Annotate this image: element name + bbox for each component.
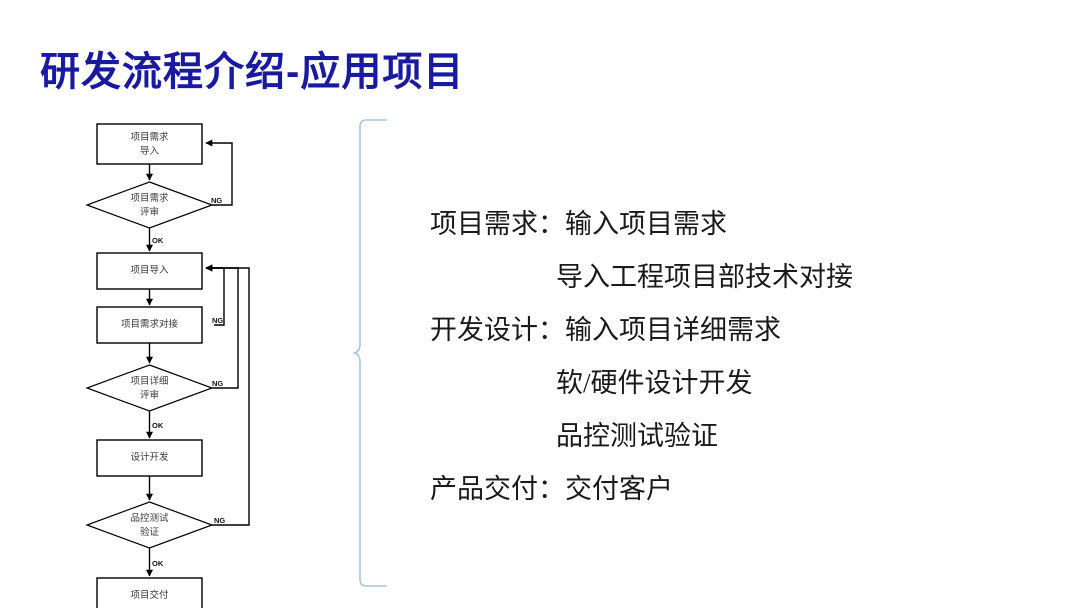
description-line: 品控测试验证 — [430, 410, 1030, 463]
flowchart-diagram: 项目需求 导入 项目需求 评审 NG OK 项目导入 项目需求对接 — [0, 0, 330, 608]
flow-node-design-development: 设计开发 — [97, 440, 202, 476]
flow-node-label: 项目详细 — [130, 375, 168, 387]
flow-edge-label-ng: NG — [211, 196, 222, 205]
description-line: 开发设计：输入项目详细需求 — [430, 304, 1030, 357]
description-line: 产品交付：交付客户 — [430, 463, 1030, 516]
flow-node-label: 导入 — [140, 146, 160, 157]
description-line: 项目需求：输入项目需求 — [430, 198, 1030, 251]
flow-node-label: 项目导入 — [130, 265, 169, 276]
flow-node-qc-test-verification: 品控测试 验证 — [87, 502, 212, 548]
flow-node-label: 验证 — [140, 526, 160, 538]
curly-brace-decoration — [352, 118, 392, 588]
flow-edge-ng-loop-3 — [206, 268, 238, 388]
flow-node-project-requirement-review: 项目需求 评审 — [87, 182, 212, 228]
flow-node-label: 评审 — [140, 206, 159, 218]
flow-node-requirement-alignment: 项目需求对接 — [97, 307, 202, 343]
flow-edge-label-ng: NG — [212, 316, 223, 325]
flow-node-detailed-review: 项目详细 评审 — [87, 365, 212, 411]
flow-node-label: 评审 — [140, 389, 159, 401]
flow-node-label: 项目需求对接 — [121, 318, 179, 330]
flow-node-project-requirement-import: 项目需求 导入 — [97, 124, 202, 164]
flow-node-project-import: 项目导入 — [97, 253, 202, 289]
flow-node-label: 品控测试 — [130, 512, 169, 524]
flow-node-label: 设计开发 — [130, 451, 169, 463]
description-line: 导入工程项目部技术对接 — [430, 251, 1030, 304]
flow-edge-label-ng: NG — [214, 516, 225, 525]
flow-node-label: 项目需求 — [130, 192, 169, 204]
flow-edge-ng-loop-4 — [206, 268, 249, 525]
flow-node-label: 项目交付 — [130, 589, 169, 601]
flow-edge-label-ok: OK — [152, 421, 164, 430]
flow-node-project-delivery: 项目交付 — [97, 578, 202, 608]
description-line: 软/硬件设计开发 — [430, 357, 1030, 410]
flow-edge-label-ok: OK — [152, 559, 164, 568]
flow-node-label: 项目需求 — [130, 131, 169, 143]
flow-edge-label-ok: OK — [152, 236, 164, 245]
flow-edge-label-ng: NG — [212, 379, 223, 388]
description-text-block: 项目需求：输入项目需求 导入工程项目部技术对接 开发设计：输入项目详细需求 软/… — [430, 198, 1030, 516]
